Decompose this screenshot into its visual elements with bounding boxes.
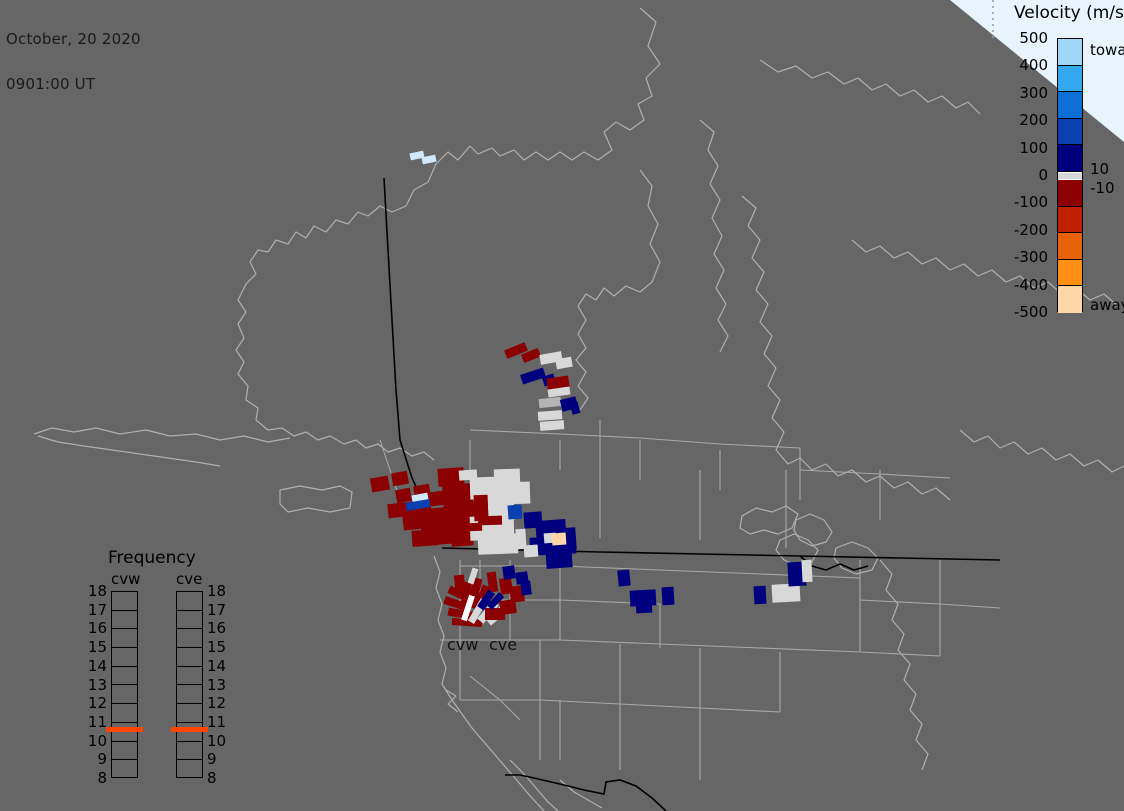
velocity-tick-0: 0 bbox=[988, 168, 1048, 183]
velocity-colorbar-band-10 bbox=[1058, 286, 1082, 313]
radar-cell bbox=[540, 420, 565, 431]
radar-cell bbox=[535, 519, 566, 543]
velocity-colorbar: Velocity (m/s) 5004003002001000-100-200-… bbox=[1000, 0, 1124, 330]
radar-cell bbox=[466, 502, 488, 517]
velocity-colorbar-band-0 bbox=[1058, 39, 1082, 66]
radar-cell bbox=[450, 525, 473, 546]
frequency-tick-right-16: 16 bbox=[207, 621, 229, 636]
radar-cell bbox=[499, 599, 517, 615]
international-borders bbox=[384, 178, 1000, 811]
frequency-tick-left-13: 13 bbox=[85, 678, 107, 693]
radar-cell bbox=[409, 151, 424, 161]
frequency-cell bbox=[177, 704, 202, 723]
velocity-colorbar-band-6 bbox=[1058, 180, 1082, 207]
radar-cell bbox=[560, 539, 577, 554]
radar-cell bbox=[470, 476, 505, 499]
radar-cell bbox=[452, 618, 482, 627]
velocity-tick-400: 400 bbox=[988, 58, 1048, 73]
radar-cell bbox=[508, 505, 523, 520]
radar-cell bbox=[467, 577, 483, 608]
frequency-tick-right-14: 14 bbox=[207, 659, 229, 674]
radar-cell bbox=[474, 584, 490, 609]
radar-cell bbox=[548, 387, 571, 398]
radar-cell bbox=[754, 586, 767, 605]
radar-cell bbox=[529, 536, 556, 556]
frequency-marker-cvw bbox=[106, 727, 143, 732]
frequency-tick-right-10: 10 bbox=[207, 734, 229, 749]
radar-cell bbox=[459, 469, 478, 480]
frequency-tick-left-18: 18 bbox=[85, 584, 107, 599]
frequency-tick-right-11: 11 bbox=[207, 715, 229, 730]
radar-cell bbox=[801, 560, 812, 582]
station-label-cvw: cvw bbox=[447, 635, 478, 654]
radar-cell bbox=[555, 357, 572, 370]
frequency-tick-left-14: 14 bbox=[85, 659, 107, 674]
frequency-cell bbox=[112, 592, 137, 611]
velocity-tick-100: 100 bbox=[988, 141, 1048, 156]
velocity-colorbar-band-3 bbox=[1058, 119, 1082, 146]
radar-velocity-map: October, 20 2020 0901:00 UT cvw cve Velo… bbox=[0, 0, 1124, 811]
radar-cell bbox=[402, 511, 434, 530]
velocity-inner-upper-label: 10 bbox=[1090, 162, 1109, 177]
radar-cell bbox=[447, 586, 470, 603]
radar-cell bbox=[662, 587, 675, 606]
velocity-tick--200: -200 bbox=[988, 223, 1048, 238]
radar-cell bbox=[447, 504, 477, 532]
radar-cell bbox=[448, 608, 477, 621]
radar-cell bbox=[478, 516, 502, 526]
frequency-tick-right-18: 18 bbox=[207, 584, 229, 599]
velocity-colorbar-band-2 bbox=[1058, 92, 1082, 119]
frequency-tick-left-16: 16 bbox=[85, 621, 107, 636]
radar-cell bbox=[499, 577, 513, 595]
radar-cell bbox=[474, 494, 515, 521]
frequency-marker-cve bbox=[171, 727, 208, 732]
radar-cell bbox=[410, 499, 432, 518]
frequency-tick-right-17: 17 bbox=[207, 603, 229, 618]
frequency-tick-right-12: 12 bbox=[207, 696, 229, 711]
radar-cell bbox=[509, 585, 525, 603]
radar-cell bbox=[387, 502, 412, 518]
frequency-column-label-cvw: cvw bbox=[111, 570, 140, 588]
velocity-colorbar-title: Velocity (m/s) bbox=[1014, 3, 1124, 23]
radar-cell bbox=[546, 376, 569, 391]
radar-cell bbox=[419, 506, 455, 531]
radar-cell bbox=[787, 562, 806, 587]
radar-cell bbox=[630, 589, 657, 606]
radar-cell bbox=[478, 533, 519, 554]
radar-cell bbox=[502, 565, 516, 580]
radar-cell bbox=[370, 476, 390, 493]
frequency-cell bbox=[177, 667, 202, 686]
frequency-tick-left-12: 12 bbox=[85, 696, 107, 711]
radar-cell bbox=[544, 533, 557, 544]
radar-cell bbox=[468, 567, 479, 584]
radar-velocity-cells bbox=[370, 151, 813, 627]
frequency-tick-left-11: 11 bbox=[85, 715, 107, 730]
velocity-tick--100: -100 bbox=[988, 195, 1048, 210]
frequency-tick-left-9: 9 bbox=[85, 752, 107, 767]
frequency-cell bbox=[112, 629, 137, 648]
velocity-colorbar-band-8 bbox=[1058, 233, 1082, 260]
velocity-colorbar-band-5 bbox=[1058, 172, 1082, 180]
frequency-cell bbox=[112, 685, 137, 704]
radar-cell bbox=[772, 583, 801, 602]
radar-cell bbox=[487, 592, 505, 610]
radar-cell bbox=[468, 598, 487, 624]
frequency-tick-left-17: 17 bbox=[85, 603, 107, 618]
velocity-tick-200: 200 bbox=[988, 113, 1048, 128]
frequency-tick-right-8: 8 bbox=[207, 771, 229, 786]
frequency-tick-left-10: 10 bbox=[85, 734, 107, 749]
frequency-cell bbox=[112, 648, 137, 667]
radar-cell bbox=[442, 483, 474, 511]
radar-cell bbox=[538, 410, 563, 421]
velocity-colorbar-band-4 bbox=[1058, 145, 1082, 172]
frequency-cell bbox=[112, 667, 137, 686]
frequency-cell bbox=[112, 611, 137, 630]
velocity-toward-label: toward bbox=[1090, 43, 1124, 58]
frequency-cell bbox=[177, 648, 202, 667]
radar-cell bbox=[477, 600, 499, 624]
radar-cell bbox=[502, 482, 531, 505]
velocity-colorbar-band-9 bbox=[1058, 260, 1082, 287]
radar-cell bbox=[391, 471, 409, 487]
radar-cell bbox=[545, 547, 572, 569]
velocity-tick-500: 500 bbox=[988, 31, 1048, 46]
velocity-colorbar-band-1 bbox=[1058, 66, 1082, 93]
frequency-bar-cve bbox=[176, 591, 203, 778]
frequency-cell bbox=[177, 611, 202, 630]
velocity-tick--400: -400 bbox=[988, 278, 1048, 293]
frequency-tick-right-13: 13 bbox=[207, 678, 229, 693]
frequency-legend: Frequency cvw cve 18171615141312111098 1… bbox=[85, 548, 240, 783]
frequency-tick-right-15: 15 bbox=[207, 640, 229, 655]
velocity-inner-lower-label: -10 bbox=[1090, 181, 1115, 196]
frequency-bar-cvw bbox=[111, 591, 138, 778]
timestamp-time: 0901:00 UT bbox=[6, 77, 141, 92]
radar-cell bbox=[429, 523, 464, 545]
radar-cell bbox=[542, 373, 557, 386]
radar-cell bbox=[539, 397, 562, 408]
velocity-colorbar-band-7 bbox=[1058, 207, 1082, 234]
radar-cell bbox=[515, 571, 529, 585]
velocity-tick--300: -300 bbox=[988, 250, 1048, 265]
radar-cell bbox=[552, 533, 567, 546]
velocity-away-label: away bbox=[1090, 298, 1124, 313]
radar-cell bbox=[523, 511, 542, 528]
radar-cell bbox=[485, 608, 505, 620]
frequency-cell bbox=[177, 742, 202, 761]
timestamp-date: October, 20 2020 bbox=[6, 32, 141, 47]
radar-cell bbox=[570, 401, 581, 415]
frequency-cell bbox=[177, 629, 202, 648]
radar-cell bbox=[560, 396, 578, 412]
station-label-cve: cve bbox=[489, 635, 517, 654]
radar-cell bbox=[443, 596, 470, 612]
radar-cell bbox=[412, 493, 429, 503]
radar-cell bbox=[521, 348, 541, 363]
radar-cell bbox=[474, 495, 489, 521]
radar-cell bbox=[405, 499, 430, 511]
radar-cell bbox=[395, 488, 412, 503]
radar-cell bbox=[485, 604, 508, 625]
frequency-cell bbox=[177, 760, 202, 779]
radar-cell bbox=[636, 601, 653, 614]
radar-cell bbox=[460, 582, 472, 609]
radar-cell bbox=[539, 351, 562, 365]
radar-cell bbox=[551, 527, 576, 551]
radar-cell bbox=[487, 571, 499, 592]
frequency-cell bbox=[112, 704, 137, 723]
radar-cell bbox=[413, 484, 431, 500]
radar-cell bbox=[520, 368, 546, 385]
radar-cell bbox=[411, 529, 438, 547]
radar-cell bbox=[515, 529, 526, 550]
radar-cell bbox=[461, 595, 475, 622]
frequency-tick-left-8: 8 bbox=[85, 771, 107, 786]
radar-cell bbox=[466, 523, 482, 532]
radar-cell bbox=[504, 342, 528, 359]
frequency-cell bbox=[112, 760, 137, 779]
radar-cell bbox=[420, 490, 448, 507]
frequency-cell bbox=[177, 592, 202, 611]
velocity-tick-300: 300 bbox=[988, 86, 1048, 101]
radar-cell bbox=[470, 515, 515, 541]
radar-cell bbox=[477, 589, 495, 610]
velocity-colorbar-gradient bbox=[1057, 38, 1083, 312]
radar-cell bbox=[421, 155, 436, 165]
frequency-cell bbox=[177, 685, 202, 704]
timestamp: October, 20 2020 0901:00 UT bbox=[6, 2, 141, 122]
frequency-cell bbox=[112, 742, 137, 761]
state-province-borders bbox=[380, 420, 1000, 780]
frequency-tick-right-9: 9 bbox=[207, 752, 229, 767]
velocity-tick--500: -500 bbox=[988, 305, 1048, 320]
radar-cell bbox=[617, 569, 631, 586]
frequency-column-label-cve: cve bbox=[176, 570, 202, 588]
radar-cell bbox=[454, 575, 466, 598]
radar-cell bbox=[520, 580, 532, 595]
frequency-tick-left-15: 15 bbox=[85, 640, 107, 655]
frequency-legend-title: Frequency bbox=[108, 548, 196, 568]
radar-cell bbox=[437, 467, 464, 487]
radar-cell bbox=[524, 545, 539, 558]
radar-cell bbox=[494, 469, 521, 486]
